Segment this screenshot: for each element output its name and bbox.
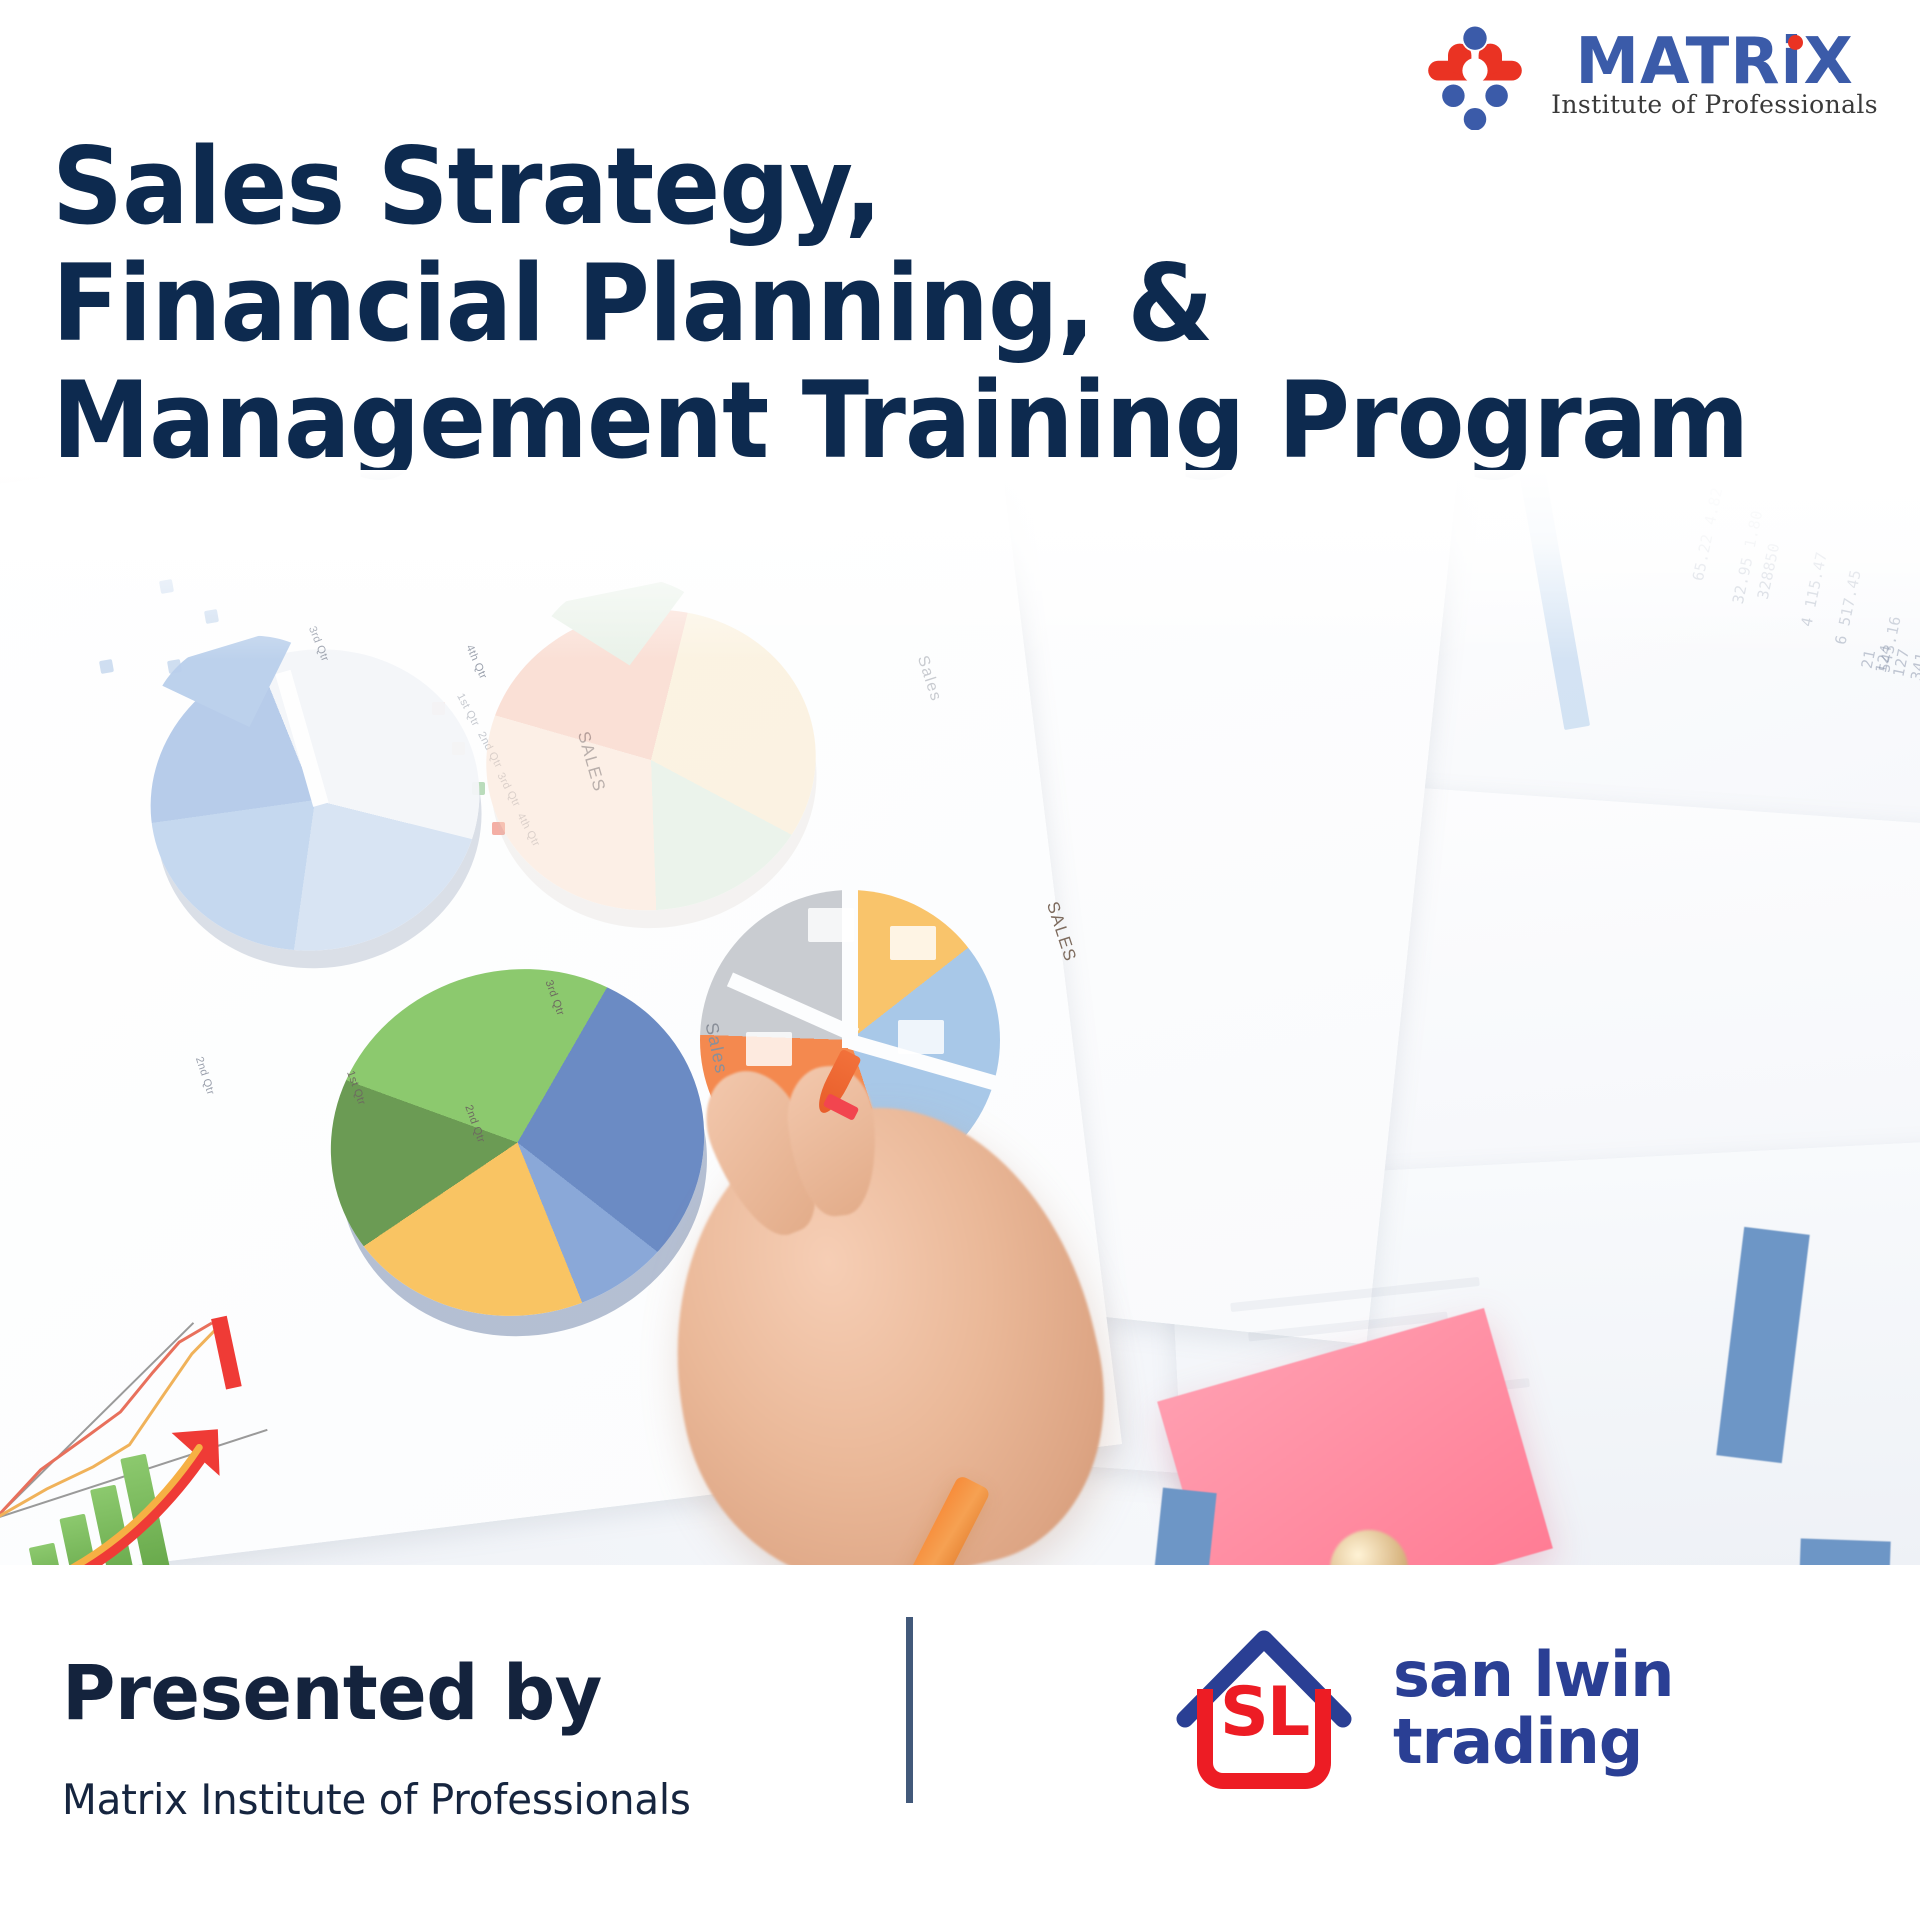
legend-swatch [159, 579, 174, 594]
footer-divider [906, 1617, 913, 1803]
title-line-3: Management Training Program [52, 362, 1447, 479]
promo-poster: MATRiX Institute of Professionals Sales … [0, 0, 1920, 1920]
san-lwin-trading-logo: SL san lwin trading [1175, 1623, 1673, 1795]
sl-monogram: SL [1175, 1679, 1353, 1747]
house-sl-icon: SL [1175, 1623, 1353, 1795]
paper-strip [1147, 1488, 1216, 1565]
pie-slice-label [898, 1020, 944, 1054]
footer: Presented by Matrix Institute of Profess… [0, 1565, 1920, 1920]
paper-strip [1799, 1538, 1890, 1565]
page-title: Sales Strategy, Financial Planning, & Ma… [52, 128, 1552, 479]
matrix-i-dot-icon [1788, 35, 1803, 50]
matrix-molecule-icon [1421, 22, 1529, 130]
pie-slice-label [746, 1032, 792, 1066]
title-line-2: Financial Planning, & [52, 245, 1447, 362]
presented-by-block: Presented by Matrix Institute of Profess… [62, 1655, 717, 1824]
title-line-1: Sales Strategy, [52, 128, 1447, 245]
pie-slice-label [890, 926, 936, 960]
partner-name-line-2: trading [1393, 1709, 1673, 1776]
pie-slice-label [808, 908, 854, 942]
presented-by-label: Presented by [62, 1655, 691, 1731]
partner-wordmark: san lwin trading [1393, 1642, 1673, 1776]
hero-photo: 65.22 4.82 32.95 1.80 328850 4 115.47 6 … [0, 470, 1920, 1565]
legend-swatch [99, 659, 114, 674]
matrix-brand-logo: MATRiX Institute of Professionals [1421, 22, 1878, 130]
legend-swatch [204, 609, 219, 624]
partner-name-line-1: san lwin [1393, 1642, 1673, 1709]
presenter-name: Matrix Institute of Professionals [62, 1775, 691, 1824]
brand-name: MATRiX [1575, 33, 1853, 92]
matrix-wordmark: MATRiX Institute of Professionals [1551, 33, 1878, 119]
